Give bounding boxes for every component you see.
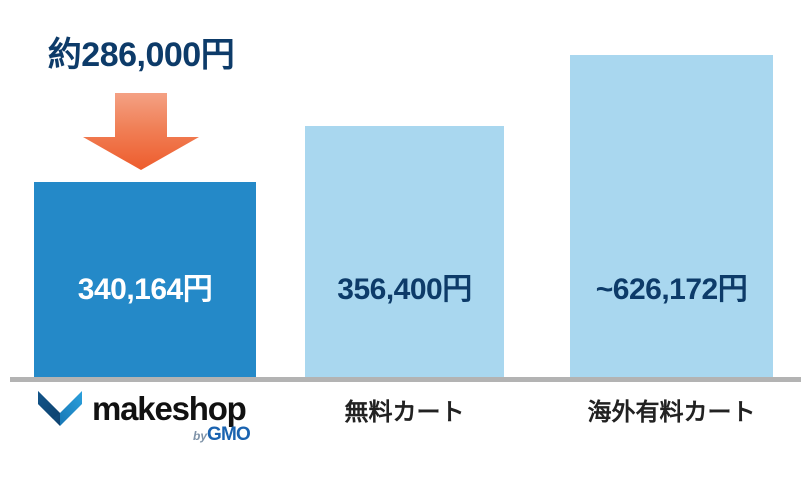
bar-value-makeshop: 340,164円 bbox=[34, 275, 256, 305]
makeshop-m-mark-icon bbox=[38, 391, 82, 426]
chart-canvas: 約286,000円 340,164円 356,400円 ~626,172円 bbox=[0, 0, 810, 480]
bar-value-overseas-paid-cart: ~626,172円 bbox=[570, 275, 773, 305]
by-gmo-lockup: byGMO bbox=[193, 425, 250, 444]
bar-free-cart: 356,400円 bbox=[305, 126, 504, 377]
makeshop-logo-lockup: makeshop bbox=[38, 391, 246, 426]
by-text: by bbox=[193, 429, 207, 443]
down-arrow-icon bbox=[82, 93, 200, 171]
category-label-overseas-paid-cart: 海外有料カート bbox=[560, 392, 783, 427]
bar-overseas-paid-cart: ~626,172円 bbox=[570, 55, 773, 377]
category-label-free-cart: 無料カート bbox=[305, 392, 504, 427]
bar-makeshop: 340,164円 bbox=[34, 182, 256, 377]
axis-baseline bbox=[10, 377, 801, 382]
savings-callout-label: 約286,000円 bbox=[0, 38, 282, 72]
makeshop-wordmark: makeshop bbox=[92, 392, 246, 425]
bar-value-free-cart: 356,400円 bbox=[305, 275, 504, 305]
gmo-wordmark: GMO bbox=[207, 424, 250, 445]
category-label-makeshop: makeshop byGMO bbox=[34, 389, 256, 449]
